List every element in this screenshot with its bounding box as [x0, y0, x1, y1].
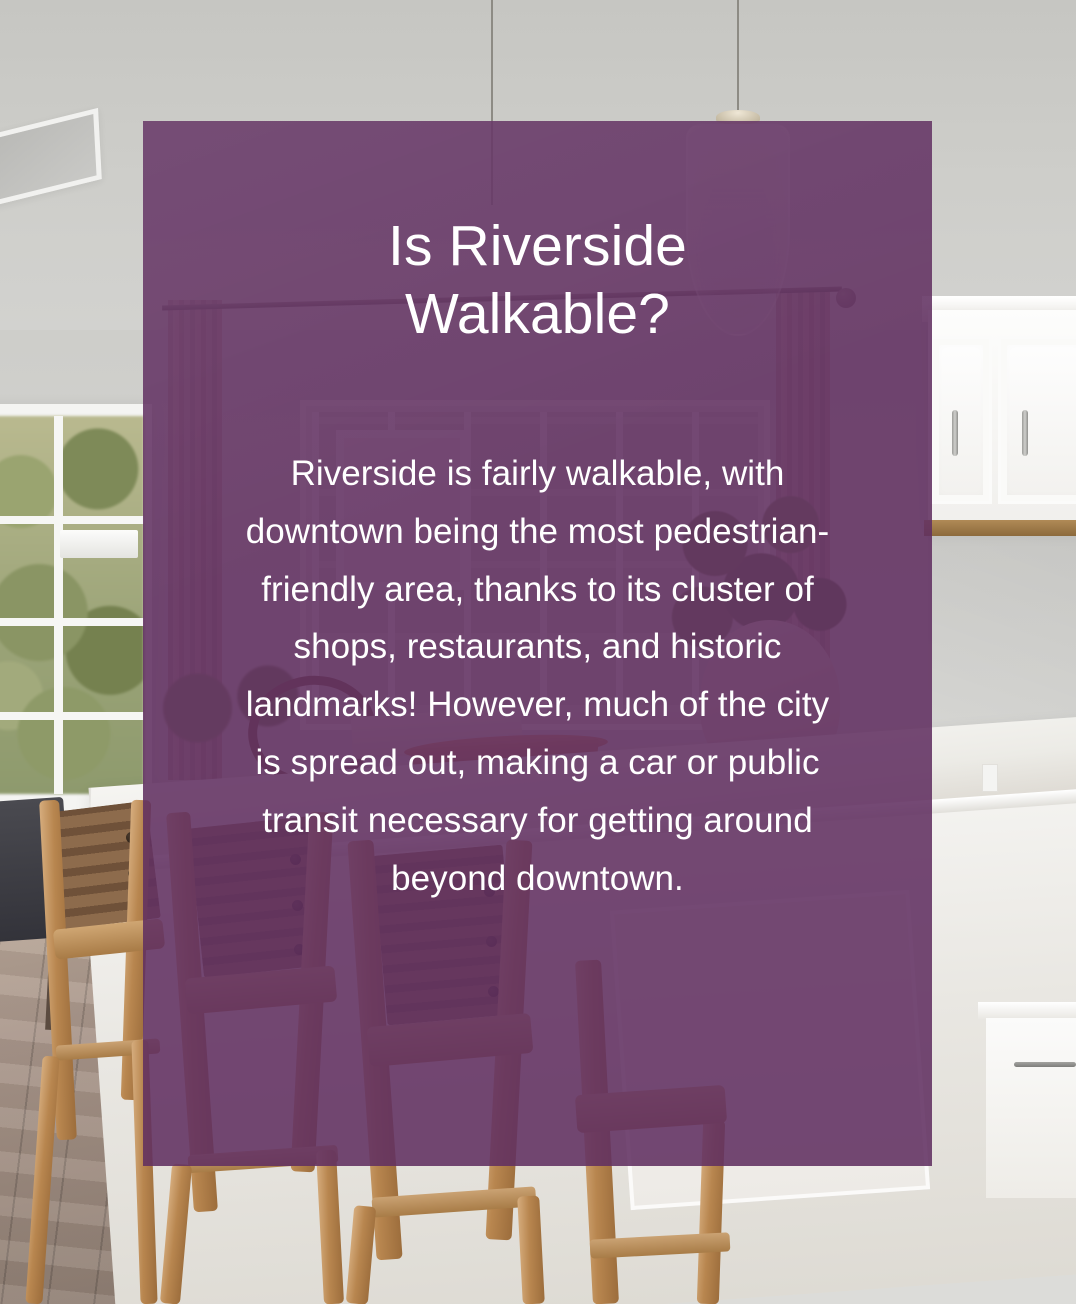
window-glass-foliage: [0, 416, 144, 794]
cabinet-door: [930, 336, 992, 504]
window-mullion-horizontal: [0, 516, 144, 524]
window-mullion-horizontal: [0, 618, 144, 626]
double-hung-window: [0, 404, 152, 824]
cabinet-door: [998, 336, 1076, 504]
window-mullion-vertical: [54, 416, 63, 794]
wall-shadow: [928, 536, 1076, 746]
wood-floating-shelf: [924, 520, 1076, 536]
cabinet-bar-pull-handle-icon: [1022, 410, 1028, 456]
body-paragraph: Riverside is fairly walkable, with downt…: [230, 445, 846, 908]
cabinet-bar-pull-handle-icon: [952, 410, 958, 456]
white-lower-drawer-cabinet: [986, 1018, 1076, 1198]
purple-text-overlay-panel: Is Riverside Walkable? Riverside is fair…: [143, 121, 932, 1166]
page-title: Is Riverside Walkable?: [323, 213, 753, 349]
promo-graphic: Is Riverside Walkable? Riverside is fair…: [0, 0, 1076, 1304]
window-ac-unit: [60, 530, 138, 558]
window-mullion-horizontal: [0, 712, 144, 720]
pendant-light-cord: [737, 0, 739, 113]
wall-light-switch: [982, 764, 998, 792]
drawer-pull-handle-icon: [1014, 1062, 1076, 1067]
